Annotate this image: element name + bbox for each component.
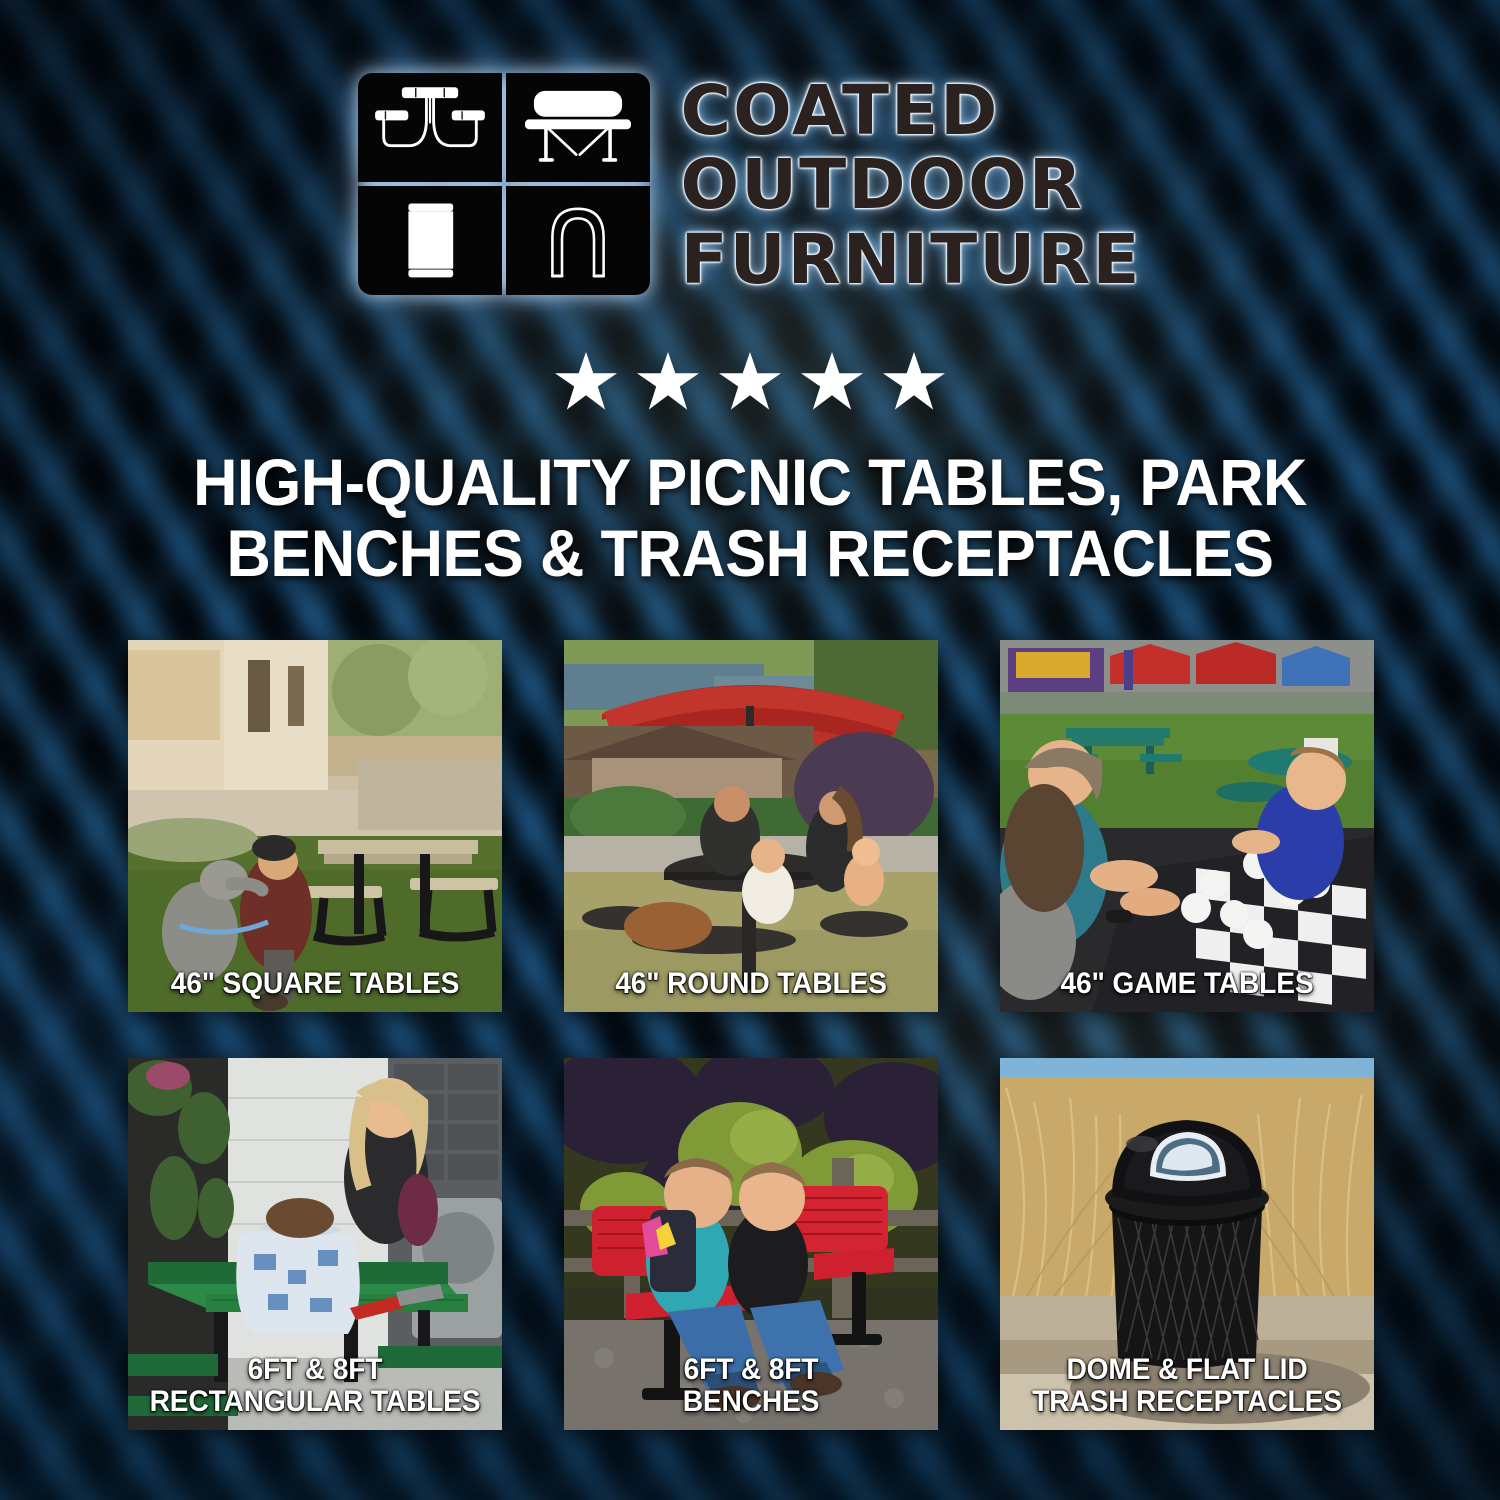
caption-line-1: DOME & FLAT LID — [1017, 1354, 1357, 1386]
product-card-benches[interactable]: 6FT & 8FT BENCHES — [564, 1058, 938, 1430]
logo-word-outdoor: OUTDOOR — [680, 150, 1141, 220]
star-icon — [555, 352, 617, 412]
star-rating — [0, 352, 1500, 412]
photo-round-tables — [564, 640, 938, 1012]
product-card-game-tables[interactable]: 46" GAME TABLES — [1000, 640, 1374, 1012]
star-icon — [801, 352, 863, 412]
logo-word-coated: COATED — [680, 76, 1141, 146]
card-caption: 46" GAME TABLES — [1017, 968, 1357, 1000]
product-card-trash-receptacles[interactable]: DOME & FLAT LID TRASH RECEPTACLES — [1000, 1058, 1374, 1430]
caption-line-1: 6FT & 8FT — [145, 1354, 485, 1386]
photo-square-tables — [128, 640, 502, 1012]
product-card-rectangular-tables[interactable]: 6FT & 8FT RECTANGULAR TABLES — [128, 1058, 502, 1430]
product-card-square-tables[interactable]: 46" SQUARE TABLES — [128, 640, 502, 1012]
star-icon — [883, 352, 945, 412]
logo-icon-grid — [358, 73, 650, 295]
logo-wordmark: COATED OUTDOOR FURNITURE — [680, 72, 1141, 295]
headline-line-2: BENCHES & TRASH RECEPTACLES — [108, 518, 1391, 589]
caption-line-2: BENCHES — [581, 1386, 921, 1418]
logo-word-furniture: FURNITURE — [680, 225, 1141, 295]
photo-game-tables — [1000, 640, 1374, 1012]
card-caption: 6FT & 8FT BENCHES — [581, 1354, 921, 1418]
picnic-table-icon — [358, 73, 502, 182]
caption-line-1: 46" SQUARE TABLES — [145, 968, 485, 1000]
card-caption: DOME & FLAT LID TRASH RECEPTACLES — [1017, 1354, 1357, 1418]
brand-logo-lockup: COATED OUTDOOR FURNITURE — [0, 72, 1500, 295]
caption-line-1: 46" GAME TABLES — [1017, 968, 1357, 1000]
caption-line-1: 6FT & 8FT — [581, 1354, 921, 1386]
star-icon — [637, 352, 699, 412]
trash-receptacle-icon — [358, 186, 502, 295]
headline-line-1: HIGH-QUALITY PICNIC TABLES, PARK — [108, 447, 1391, 518]
promo-banner: COATED OUTDOOR FURNITURE HIGH-QUALITY PI… — [0, 0, 1500, 1500]
card-caption: 46" SQUARE TABLES — [145, 968, 485, 1000]
star-icon — [719, 352, 781, 412]
caption-line-1: 46" ROUND TABLES — [581, 968, 921, 1000]
page-title: HIGH-QUALITY PICNIC TABLES, PARK BENCHES… — [108, 447, 1391, 588]
card-caption: 6FT & 8FT RECTANGULAR TABLES — [145, 1354, 485, 1418]
caption-line-2: RECTANGULAR TABLES — [145, 1386, 485, 1418]
caption-line-2: TRASH RECEPTACLES — [1017, 1386, 1357, 1418]
product-card-round-tables[interactable]: 46" ROUND TABLES — [564, 640, 938, 1012]
card-caption: 46" ROUND TABLES — [581, 968, 921, 1000]
park-bench-icon — [506, 73, 650, 182]
product-category-grid: 46" SQUARE TABLES — [128, 640, 1376, 1430]
arch-bike-rack-icon — [506, 186, 650, 295]
